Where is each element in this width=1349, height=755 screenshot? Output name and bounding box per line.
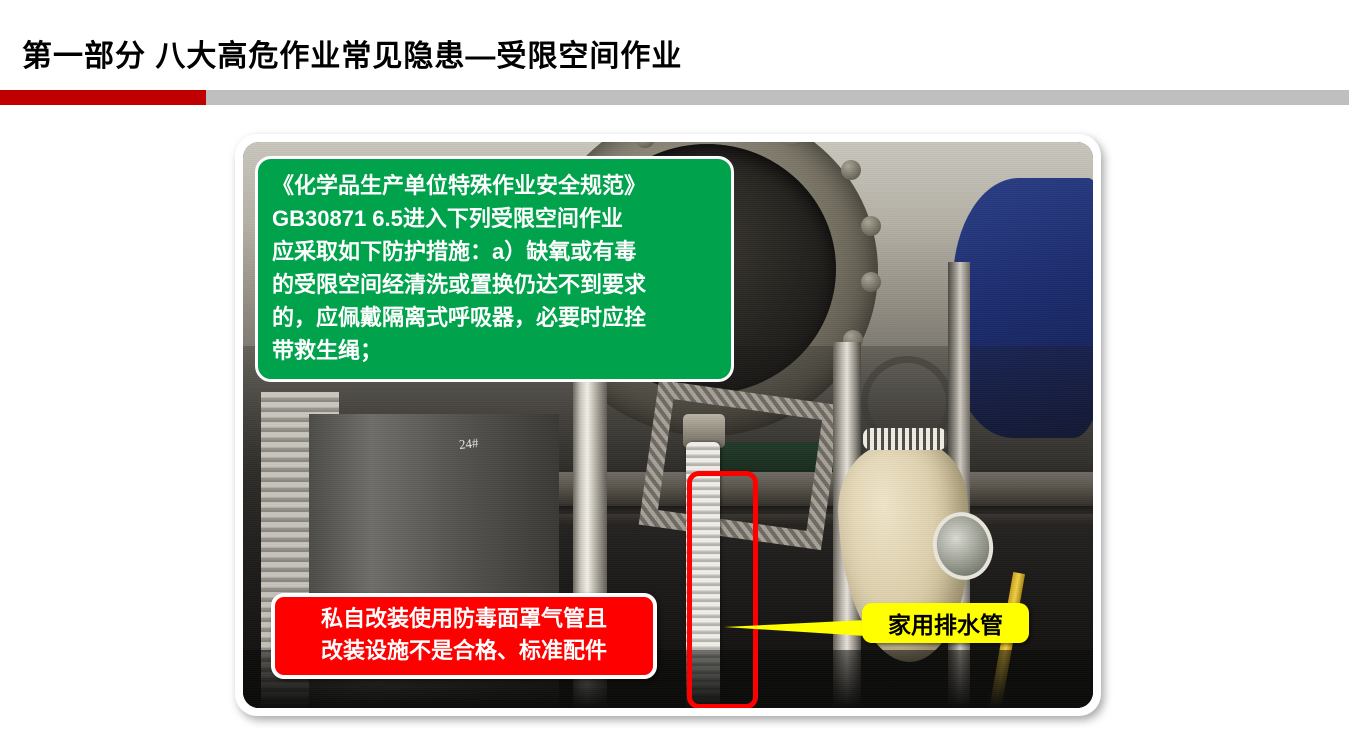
header-rule-red bbox=[0, 90, 206, 105]
flange-bolt-icon bbox=[861, 216, 881, 236]
hose-highlight-rectangle bbox=[687, 471, 758, 708]
header-rule-bar bbox=[0, 90, 1349, 105]
quote-line: 的，应佩戴隔离式呼吸器，必要时应拴 bbox=[272, 301, 717, 334]
flange-bolt-icon bbox=[861, 272, 881, 292]
page-title: 第一部分 八大高危作业常见隐患—受限空间作业 bbox=[22, 31, 682, 75]
quote-line: 应采取如下防护措施：a）缺氧或有毒 bbox=[272, 235, 717, 268]
drain-pipe-label-text: 家用排水管 bbox=[888, 606, 1003, 640]
site-photo: 24# 《化学品生产单位特殊作业安全规范》 GB30871 6.5进入下列受限空… bbox=[243, 142, 1093, 708]
standard-quote-box: 《化学品生产单位特殊作业安全规范》 GB30871 6.5进入下列受限空间作业 … bbox=[255, 156, 734, 382]
gas-mask-collar bbox=[863, 428, 947, 450]
quote-line: 《化学品生产单位特殊作业安全规范》 bbox=[272, 169, 717, 202]
quote-line: 带救生绳； bbox=[272, 334, 717, 367]
tank-handwriting: 24# bbox=[458, 435, 479, 453]
quote-line: GB30871 6.5进入下列受限空间作业 bbox=[272, 202, 717, 235]
photo-frame: 24# 《化学品生产单位特殊作业安全规范》 GB30871 6.5进入下列受限空… bbox=[235, 134, 1101, 716]
quote-line: 的受限空间经清洗或置换仍达不到要求 bbox=[272, 268, 717, 301]
hazard-note-line: 私自改装使用防毒面罩气管且 bbox=[285, 603, 643, 635]
hazard-note: 私自改装使用防毒面罩气管且 改装设施不是合格、标准配件 bbox=[271, 593, 657, 679]
drain-pipe-label: 家用排水管 bbox=[862, 603, 1029, 643]
hazard-note-line: 改装设施不是合格、标准配件 bbox=[285, 635, 643, 667]
callout-pointer-icon bbox=[724, 620, 866, 636]
flange-bolt-icon bbox=[841, 160, 861, 180]
